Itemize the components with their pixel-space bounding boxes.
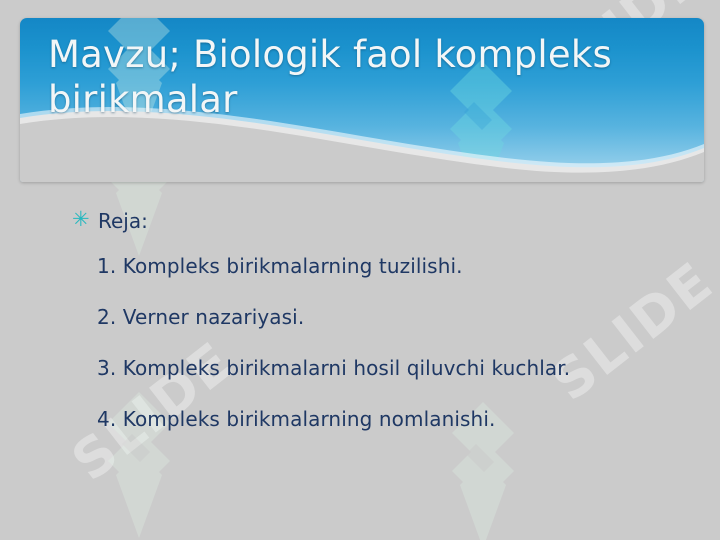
list-item: 2. Verner nazariyasi. xyxy=(0,304,720,355)
presentation-slide: SLIDE SLIDE SLIDE xyxy=(0,0,720,540)
reja-label: Reja: xyxy=(98,208,148,234)
slide-body: ✳ Reja: 1. Kompleks birikmalarning tuzil… xyxy=(0,208,720,457)
list-item: 3. Kompleks birikmalarni hosil qiluvchi … xyxy=(0,355,720,406)
star-bullet-icon: ✳ xyxy=(72,210,88,228)
list-item: 1. Kompleks birikmalarning tuzilishi. xyxy=(0,253,720,304)
list-item: 4. Kompleks birikmalarning nomlanishi. xyxy=(0,406,720,457)
slide-title: Mavzu; Biologik faol kompleks birikmalar xyxy=(48,32,674,122)
reja-heading-row: ✳ Reja: xyxy=(0,208,720,253)
title-banner: Mavzu; Biologik faol kompleks birikmalar xyxy=(20,18,704,182)
